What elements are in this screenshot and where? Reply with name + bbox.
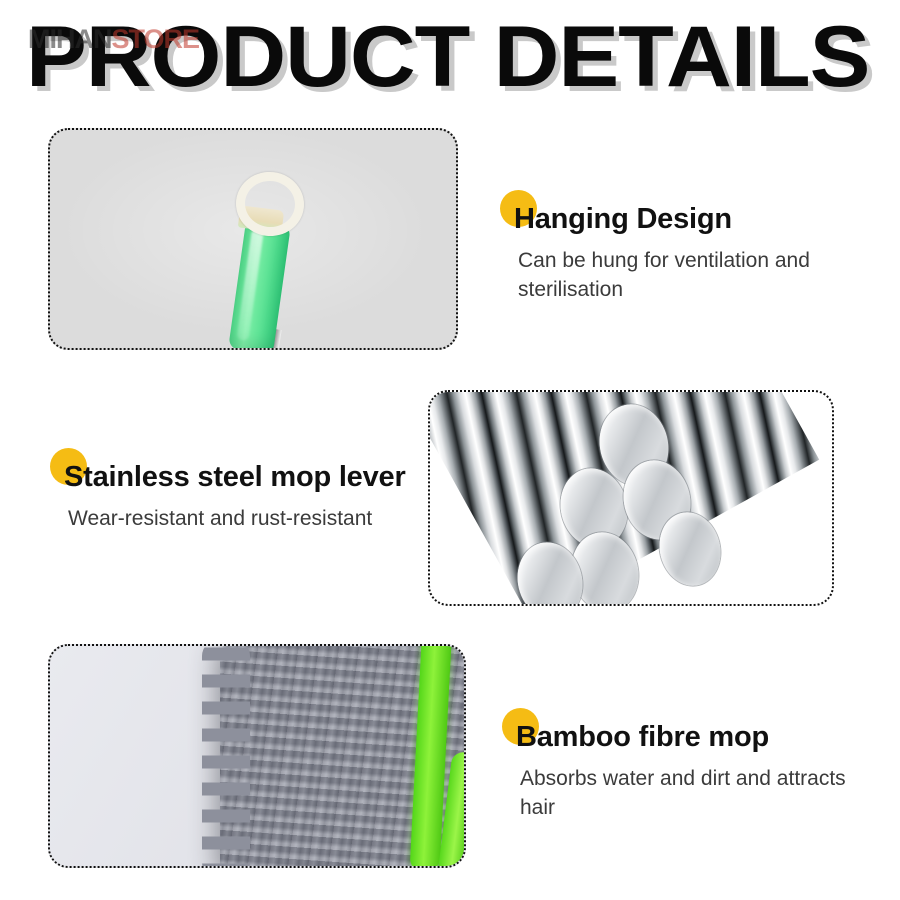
store-watermark: MIHANSTORE: [28, 24, 199, 55]
mop-head-illustration: [220, 644, 466, 868]
feature-block-steel: Stainless steel mop lever Wear-resistant…: [50, 448, 406, 533]
feature-heading-bamboo: Bamboo fibre mop: [502, 708, 880, 754]
feature-heading-hanging: Hanging Design: [500, 190, 878, 236]
mop-handle-illustration: [50, 130, 456, 348]
product-details-infographic: MIHANSTORE PRODUCT DETAILS Hanging Desig…: [0, 0, 900, 900]
feature-image-steel: [428, 390, 834, 606]
watermark-text-secondary: STORE: [112, 24, 200, 54]
feature-block-hanging: Hanging Design Can be hung for ventilati…: [500, 190, 878, 304]
feature-body-steel: Wear-resistant and rust-resistant: [68, 504, 406, 533]
feature-heading-steel: Stainless steel mop lever: [50, 448, 406, 494]
feature-image-hanging: [48, 128, 458, 350]
feature-body-bamboo: Absorbs water and dirt and attracts hair: [520, 764, 880, 822]
mop-fringe-shape: [202, 644, 250, 868]
feature-image-bamboo: [48, 644, 466, 868]
watermark-text-primary: MIHAN: [28, 24, 112, 54]
feature-body-hanging: Can be hung for ventilation and sterilis…: [518, 246, 878, 304]
hanging-ring-shape: [232, 168, 307, 240]
steel-rods-illustration: [430, 392, 832, 604]
feature-block-bamboo: Bamboo fibre mop Absorbs water and dirt …: [502, 708, 880, 822]
